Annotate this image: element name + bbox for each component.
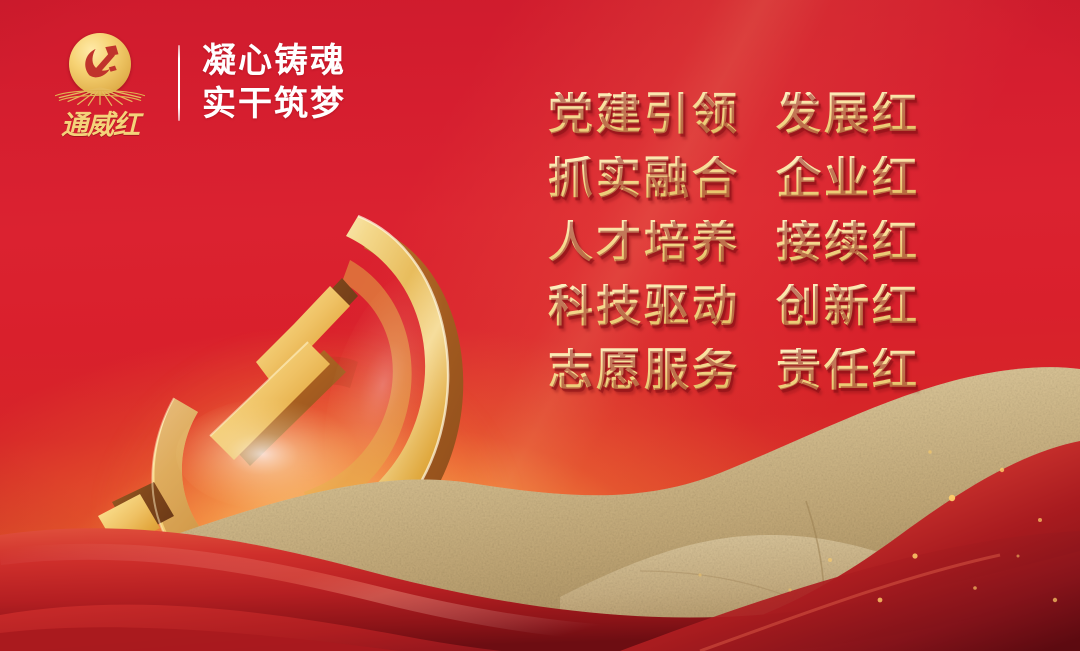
slogan-row: 党建引领 发展红 <box>548 92 920 137</box>
slogan-right: 企业红 <box>776 156 920 201</box>
slogan-left: 人才培养 <box>548 220 740 265</box>
slogan-row: 志愿服务 责任红 <box>548 348 920 393</box>
hammer-sickle-icon <box>78 41 122 85</box>
header-divider <box>178 45 180 121</box>
slogan-left: 抓实融合 <box>548 156 740 201</box>
party-emblem-3d-icon <box>58 186 528 606</box>
slogan-right: 发展红 <box>776 92 920 137</box>
slogan-line-1: 凝心铸魂 <box>202 41 346 82</box>
slogan-right: 责任红 <box>776 348 920 393</box>
slogan-line-2: 实干筑梦 <box>202 84 346 125</box>
brand-name: 通威红 <box>50 103 150 142</box>
header-lockup: 通威红 凝心铸魂 实干筑梦 <box>48 33 346 133</box>
slogan-left: 党建引领 <box>548 92 740 137</box>
slogan-right: 接续红 <box>776 220 920 265</box>
party-emblem-sculpture <box>58 186 528 606</box>
slogan-row: 人才培养 接续红 <box>548 220 920 265</box>
banner-poster: 通威红 凝心铸魂 实干筑梦 <box>0 0 1080 651</box>
slogan-row: 抓实融合 企业红 <box>548 156 920 201</box>
slogan-left: 志愿服务 <box>548 348 740 393</box>
slogan-row: 科技驱动 创新红 <box>548 284 920 329</box>
brand-logo: 通威红 <box>48 33 152 133</box>
slogan-right: 创新红 <box>776 284 920 329</box>
slogan-grid: 党建引领 发展红 抓实融合 企业红 人才培养 接续红 科技驱动 创新红 志愿服务… <box>548 92 920 393</box>
header-slogan: 凝心铸魂 实干筑梦 <box>202 41 346 126</box>
slogan-left: 科技驱动 <box>548 284 740 329</box>
